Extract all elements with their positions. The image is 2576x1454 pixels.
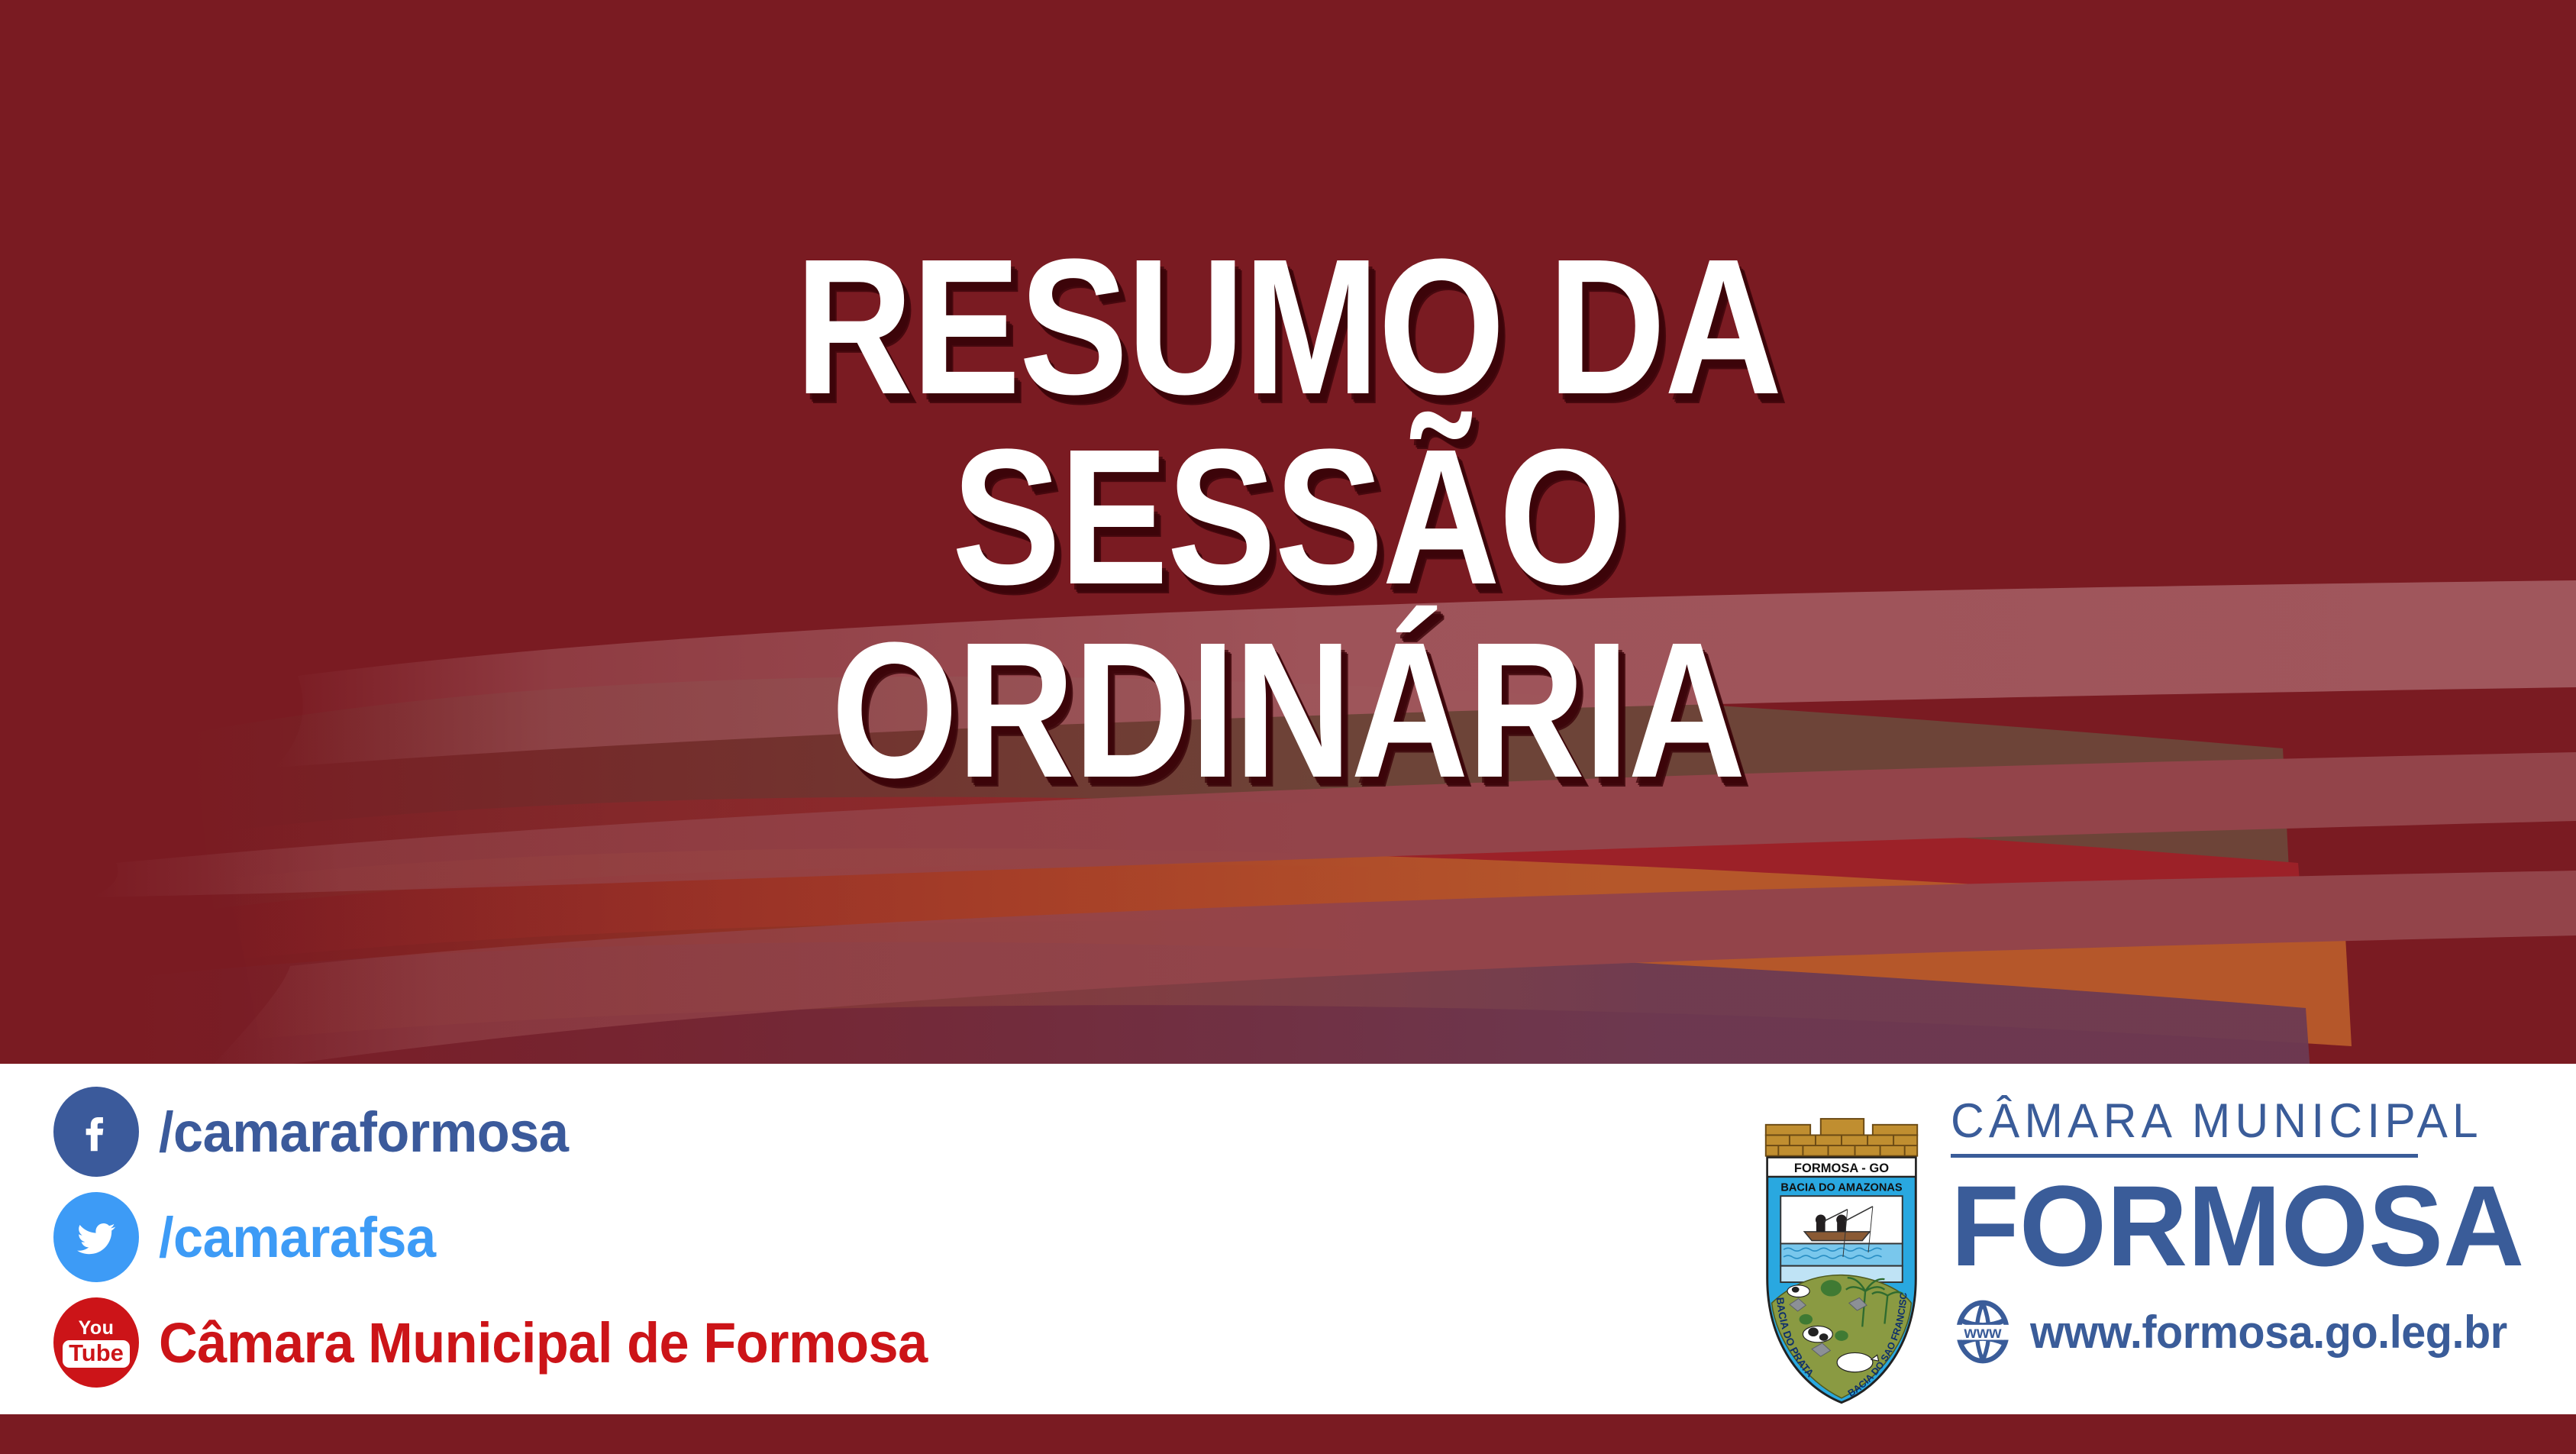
social-row-youtube[interactable]: You Tube Câmara Municipal de Formosa	[53, 1290, 1275, 1395]
title-line-1: RESUMO DA	[795, 234, 1780, 420]
brand-text-block: CÂMARA MUNICIPAL FORMOSA www www.formosa…	[1951, 1097, 2536, 1364]
youtube-tube-text: Tube	[63, 1340, 130, 1368]
twitter-handle[interactable]: /camarafsa	[159, 1205, 436, 1270]
globe-www-label: www	[1964, 1324, 2003, 1342]
title-line-2: SESSÃO	[952, 425, 1625, 610]
title-line-3: ORDINÁRIA	[831, 618, 1745, 803]
www-globe-icon: www	[1951, 1300, 2015, 1364]
twitter-icon[interactable]	[53, 1192, 139, 1282]
brand-divider	[1951, 1154, 2418, 1158]
brand-main-line: FORMOSA	[1951, 1168, 2524, 1283]
brand-website-url[interactable]: www.formosa.go.leg.br	[2030, 1306, 2507, 1359]
youtube-mark: You Tube	[63, 1319, 130, 1368]
youtube-you-text: You	[79, 1319, 115, 1338]
brand-website-row[interactable]: www www.formosa.go.leg.br	[1951, 1300, 2536, 1364]
poster-title: RESUMO DA SESSÃO ORDINÁRIA	[0, 0, 2576, 1064]
brand-lockup: FORMOSA - GO BACIA DO AMAZONAS	[1760, 1085, 2536, 1409]
social-links-list: /camaraformosa /camarafsa You Tube	[53, 1079, 1275, 1395]
social-row-twitter[interactable]: /camarafsa	[53, 1184, 1275, 1290]
footer-bar: /camaraformosa /camarafsa You Tube	[0, 1064, 2576, 1414]
youtube-channel-name[interactable]: Câmara Municipal de Formosa	[159, 1310, 928, 1375]
formosa-coat-of-arms-icon: FORMOSA - GO BACIA DO AMAZONAS	[1760, 1103, 1923, 1409]
poster-root: RESUMO DA SESSÃO ORDINÁRIA /camaraformos…	[0, 0, 2576, 1454]
social-row-facebook[interactable]: /camaraformosa	[53, 1079, 1275, 1184]
youtube-icon[interactable]: You Tube	[53, 1297, 139, 1388]
facebook-icon[interactable]	[53, 1087, 139, 1177]
facebook-handle[interactable]: /camaraformosa	[159, 1100, 568, 1165]
brand-top-line: CÂMARA MUNICIPAL	[1951, 1097, 2513, 1145]
hero-banner: RESUMO DA SESSÃO ORDINÁRIA	[0, 0, 2576, 1064]
crest-sub-banner: BACIA DO AMAZONAS	[1781, 1181, 1903, 1194]
footer-bottom-strip	[0, 1414, 2576, 1454]
crest-top-banner: FORMOSA - GO	[1794, 1161, 1889, 1175]
